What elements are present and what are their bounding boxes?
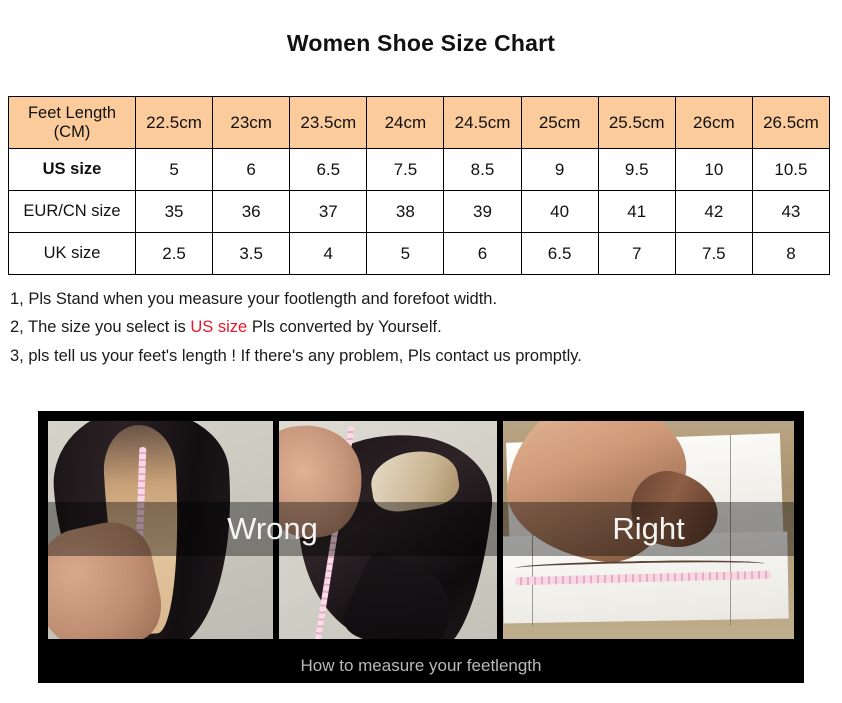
page-title: Women Shoe Size Chart <box>0 30 842 57</box>
cell-us-size-3: 7.5 <box>367 149 444 191</box>
table-row-uk-size: UK size 2.5 3.5 4 5 6 6.5 7 7.5 8 <box>9 233 830 275</box>
cell-uk-size-4: 6 <box>444 233 521 275</box>
cell-feet-length-3: 24cm <box>367 97 444 149</box>
cell-feet-length-8: 26.5cm <box>752 97 829 149</box>
cell-us-size-0: 5 <box>136 149 213 191</box>
cell-feet-length-0: 22.5cm <box>136 97 213 149</box>
cell-eur-cn-size-7: 42 <box>675 191 752 233</box>
cell-uk-size-7: 7.5 <box>675 233 752 275</box>
cell-uk-size-1: 3.5 <box>213 233 290 275</box>
cell-eur-cn-size-8: 43 <box>752 191 829 233</box>
cell-us-size-8: 10.5 <box>752 149 829 191</box>
cell-us-size-4: 8.5 <box>444 149 521 191</box>
cell-uk-size-3: 5 <box>367 233 444 275</box>
cell-uk-size-5: 6.5 <box>521 233 598 275</box>
feet-length-line2: (CM) <box>54 123 91 141</box>
size-conversion-table: Feet Length (CM) 22.5cm 23cm 23.5cm 24cm… <box>8 96 830 275</box>
size-chart-page: Women Shoe Size Chart Feet Length (CM) 2… <box>0 0 842 703</box>
cell-eur-cn-size-3: 38 <box>367 191 444 233</box>
cell-uk-size-0: 2.5 <box>136 233 213 275</box>
row-label-us-size: US size <box>9 149 136 191</box>
cell-feet-length-6: 25.5cm <box>598 97 675 149</box>
cell-us-size-2: 6.5 <box>290 149 367 191</box>
feet-length-line1: Feet Length <box>28 104 116 122</box>
cell-feet-length-7: 26cm <box>675 97 752 149</box>
table-row-feet-length: Feet Length (CM) 22.5cm 23cm 23.5cm 24cm… <box>9 97 830 149</box>
note-2-highlight: US size <box>190 318 247 336</box>
instructions-list: 1, Pls Stand when you measure your footl… <box>10 285 830 370</box>
photo-row: Wrong Right <box>48 421 794 639</box>
cell-feet-length-4: 24.5cm <box>444 97 521 149</box>
cell-uk-size-6: 7 <box>598 233 675 275</box>
cell-feet-length-2: 23.5cm <box>290 97 367 149</box>
note-1: 1, Pls Stand when you measure your footl… <box>10 285 830 313</box>
photo-shoe-insole-measure <box>48 421 273 639</box>
cell-eur-cn-size-5: 40 <box>521 191 598 233</box>
photo-shoe-side-measure <box>279 421 497 639</box>
cell-us-size-5: 9 <box>521 149 598 191</box>
cell-feet-length-1: 23cm <box>213 97 290 149</box>
cell-us-size-7: 10 <box>675 149 752 191</box>
cell-eur-cn-size-1: 36 <box>213 191 290 233</box>
cell-feet-length-5: 25cm <box>521 97 598 149</box>
note-2-prefix: 2, The size you select is <box>10 318 190 336</box>
cell-us-size-1: 6 <box>213 149 290 191</box>
cell-uk-size-8: 8 <box>752 233 829 275</box>
row-label-uk-size: UK size <box>9 233 136 275</box>
cell-eur-cn-size-0: 35 <box>136 191 213 233</box>
row-label-feet-length: Feet Length (CM) <box>9 97 136 149</box>
cell-eur-cn-size-6: 41 <box>598 191 675 233</box>
cell-eur-cn-size-2: 37 <box>290 191 367 233</box>
note-2-suffix: Pls converted by Yourself. <box>247 318 441 336</box>
photo3-guide-line-right <box>730 434 731 626</box>
note-3: 3, pls tell us your feet's length ! If t… <box>10 342 830 370</box>
note-2: 2, The size you select is US size Pls co… <box>10 313 830 341</box>
cell-us-size-6: 9.5 <box>598 149 675 191</box>
table-row-us-size: US size 5 6 6.5 7.5 8.5 9 9.5 10 10.5 <box>9 149 830 191</box>
row-label-eur-cn-size: EUR/CN size <box>9 191 136 233</box>
how-to-measure-photo-block: Wrong Right How to measure your feetleng… <box>38 411 804 683</box>
table-row-eur-cn-size: EUR/CN size 35 36 37 38 39 40 41 42 43 <box>9 191 830 233</box>
photo-caption: How to measure your feetlength <box>48 639 794 693</box>
cell-eur-cn-size-4: 39 <box>444 191 521 233</box>
photo-foot-on-paper-measure <box>503 421 794 639</box>
cell-uk-size-2: 4 <box>290 233 367 275</box>
